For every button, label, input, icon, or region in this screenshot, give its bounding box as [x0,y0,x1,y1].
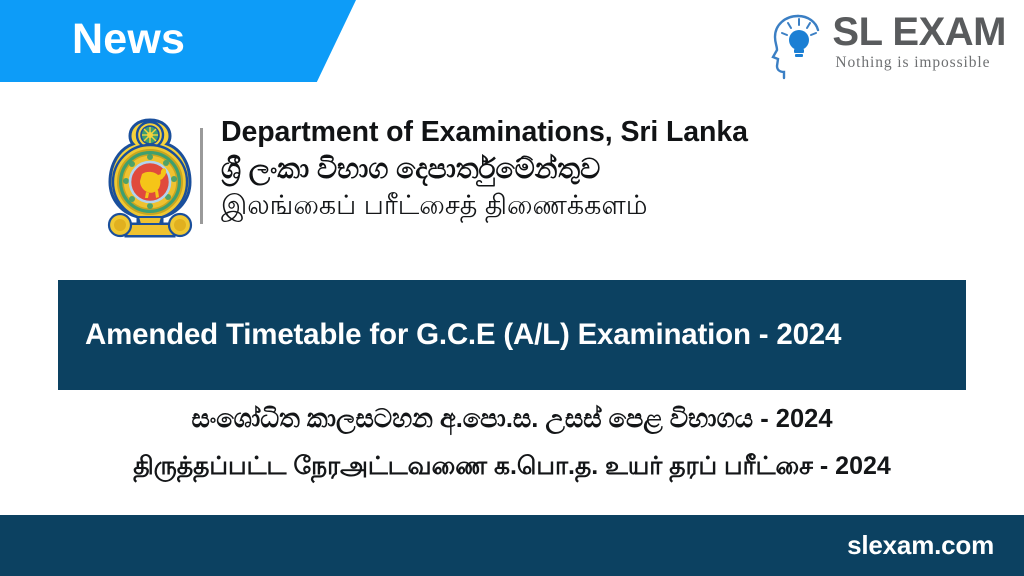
subtitle-block: සංශෝධිත කාලසටහන අ.පො.ස. උසස් පෙළ විභාගය … [0,402,1024,484]
brand-name: SL EXAM [832,13,1006,52]
footer-bar: slexam.com [0,515,1024,576]
department-header: Department of Examinations, Sri Lanka ශ්… [104,112,748,247]
subtitle-tamil: திருத்தப்பட்ட நேரஅட்டவணை க.பொ.த. உயர் தர… [0,450,1024,484]
head-lightbulb-icon [768,10,830,80]
news-ribbon-label: News [0,18,185,61]
brand-logo: SL EXAM Nothing is impossible [768,9,1006,83]
department-name-sinhala: ශ්‍රී ලංකා විභාග දෙපාර්තුමේන්තුව [221,151,748,187]
brand-text-group: SL EXAM Nothing is impossible [832,9,1006,71]
title-banner: Amended Timetable for G.C.E (A/L) Examin… [58,280,966,390]
subtitle-sinhala: සංශෝධිත කාලසටහන අ.පො.ස. උසස් පෙළ විභාගය … [0,402,1024,436]
sri-lanka-national-emblem-icon [104,112,196,244]
news-graphic-page: News SL EX [0,0,1024,576]
footer-website-label: slexam.com [847,530,1024,561]
brand-tagline: Nothing is impossible [832,55,1006,71]
title-banner-text: Amended Timetable for G.C.E (A/L) Examin… [58,318,841,352]
department-name-group: Department of Examinations, Sri Lanka ශ්… [221,112,748,223]
news-ribbon: News [0,0,356,82]
department-name-tamil: இலங்கைப் பரீட்சைத் திணைக்களம் [221,188,748,223]
department-name-english: Department of Examinations, Sri Lanka [221,117,748,149]
header-divider [200,128,203,224]
